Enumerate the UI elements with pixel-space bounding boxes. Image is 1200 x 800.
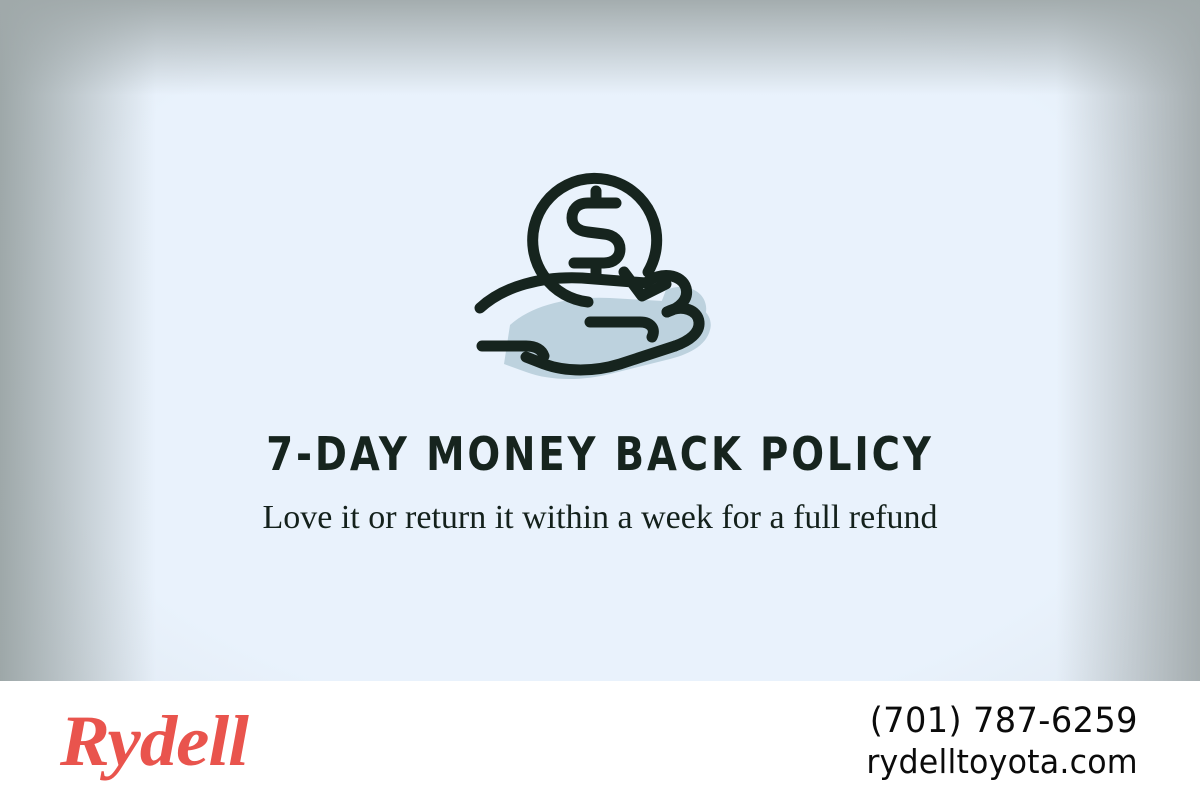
footer-bar: Rydell (701) 787-6259 rydelltoyota.com — [0, 681, 1200, 800]
subtitle: Love it or return it within a week for a… — [250, 496, 950, 540]
hero-section: 7-DAY MONEY BACK POLICY Love it or retur… — [0, 0, 1200, 681]
rydell-logo[interactable]: Rydell — [60, 705, 248, 777]
website-url[interactable]: rydelltoyota.com — [866, 742, 1138, 782]
page-title: 7-DAY MONEY BACK POLICY — [96, 428, 1104, 480]
promo-card: 7-DAY MONEY BACK POLICY Love it or retur… — [0, 0, 1200, 800]
phone-number[interactable]: (701) 787-6259 — [866, 700, 1138, 742]
money-back-hand-icon — [0, 150, 1200, 400]
contact-block: (701) 787-6259 rydelltoyota.com — [855, 700, 1138, 782]
dollar-sign — [572, 191, 620, 276]
